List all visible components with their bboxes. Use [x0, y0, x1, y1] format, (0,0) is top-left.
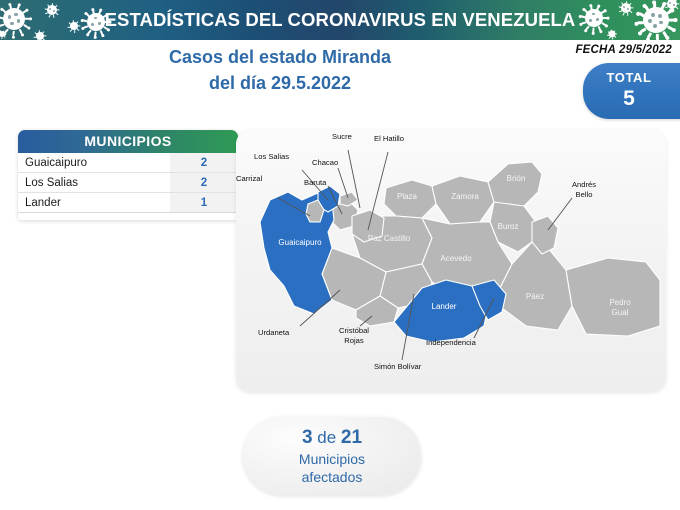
map-panel: Carrizal Los Salias Baruta Chacao Sucre …: [236, 130, 666, 392]
map-region-label-gual: Gual: [598, 308, 642, 318]
table-row: Guaicaipuro 2: [18, 153, 238, 173]
map-label-bello: Bello: [564, 190, 604, 199]
map-region-label-guaicaipuro: Guaicaipuro: [264, 238, 336, 248]
region-paez: [498, 242, 572, 330]
municipios-table-body: Guaicaipuro 2 Los Salias 2 Lander 1: [18, 153, 238, 213]
leader-andres-bello: [548, 198, 572, 230]
map-region-label-lander: Lander: [418, 302, 470, 312]
map-label-simon-bolivar: Simón Bolívar: [374, 362, 421, 371]
page-title: Casos del estado Miranda del día 29.5.20…: [0, 44, 560, 96]
banner-title: ESTADÍSTICAS DEL CORONAVIRUS EN VENEZUEL…: [0, 0, 680, 40]
total-value: 5: [623, 87, 635, 111]
table-row: Los Salias 2: [18, 173, 238, 193]
map-label-rojas: Rojas: [328, 336, 380, 345]
map-region-label-pedro: Pedro: [598, 298, 642, 308]
map-label-baruta: Baruta: [304, 178, 326, 187]
table-footer-spacer: [18, 213, 238, 220]
municipio-name: Lander: [18, 193, 170, 213]
municipio-name: Los Salias: [18, 173, 170, 193]
map-label-chacao: Chacao: [312, 158, 338, 167]
municipios-table: MUNICIPIOS Guaicaipuro 2 Los Salias 2 La…: [18, 130, 238, 220]
affected-label-line1: Municipios: [299, 450, 365, 468]
municipio-value: 1: [170, 193, 238, 213]
municipio-value: 2: [170, 153, 238, 173]
map-label-sucre: Sucre: [332, 132, 352, 141]
municipio-value: 2: [170, 173, 238, 193]
affected-de: de: [317, 428, 336, 447]
map-label-los-salias: Los Salias: [254, 152, 289, 161]
map-region-label-brion: Brión: [494, 174, 538, 184]
map-label-el-hatillo: El Hatillo: [374, 134, 404, 143]
page-title-line2: del día 29.5.2022: [0, 70, 560, 96]
municipio-name: Guaicaipuro: [18, 153, 170, 173]
map-region-label-buroz: Buroz: [486, 222, 530, 232]
map-region-label-paz-castillo: Paz Castillo: [354, 234, 424, 244]
map-region-label-zamora: Zamora: [440, 192, 490, 202]
affected-summary-pill: 3 de 21 Municipios afectados: [243, 417, 421, 495]
total-badge: TOTAL 5: [583, 63, 680, 119]
municipios-table-header: MUNICIPIOS: [18, 130, 238, 153]
region-pedrogual: [566, 258, 660, 336]
table-row: Lander 1: [18, 193, 238, 213]
region-brion: [488, 162, 542, 206]
affected-count-line: 3 de 21: [302, 426, 362, 450]
map-region-label-acevedo: Acevedo: [426, 254, 486, 264]
map-label-carrizal: Carrizal: [236, 174, 262, 183]
header-banner: ESTADÍSTICAS DEL CORONAVIRUS EN VENEZUEL…: [0, 0, 680, 40]
map-label-andres: Andrés: [564, 180, 604, 189]
infographic-root: ESTADÍSTICAS DEL CORONAVIRUS EN VENEZUEL…: [0, 0, 680, 510]
affected-total: 21: [341, 427, 362, 448]
map-label-cristobal: Cristóbal: [328, 326, 380, 335]
map-region-label-plaza: Plaza: [384, 192, 430, 202]
total-label: TOTAL: [606, 71, 651, 84]
affected-label-line2: afectados: [302, 468, 363, 486]
region-chacao: [340, 192, 358, 206]
map-label-urdaneta: Urdaneta: [258, 328, 289, 337]
map-region-label-paez: Páez: [514, 292, 556, 302]
page-title-line1: Casos del estado Miranda: [0, 44, 560, 70]
affected-count: 3: [302, 427, 313, 448]
fecha-label: FECHA 29/5/2022: [575, 44, 672, 56]
map-label-independencia: Independencia: [426, 338, 476, 347]
